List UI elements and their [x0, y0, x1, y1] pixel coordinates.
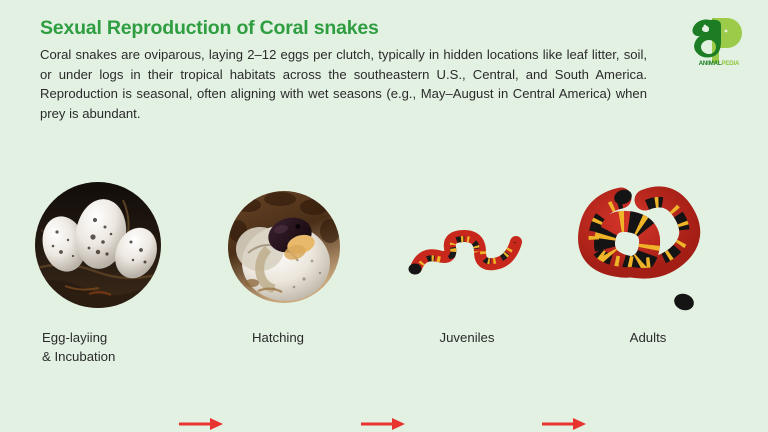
arrow-right-icon	[360, 416, 406, 432]
stage-caption: Hatching	[203, 328, 353, 347]
stage-artwork	[573, 180, 723, 325]
arrow-juveniles-to-adults	[541, 416, 587, 432]
stage-egg-laying: Egg-layiing & Incubation	[22, 180, 172, 380]
stage-caption-line1: Adults	[573, 328, 723, 347]
stage-hatching: Hatching	[203, 180, 353, 380]
juvenile-coral-snake-illustration	[402, 206, 532, 296]
hatching-photo	[228, 191, 340, 303]
arrow-right-icon	[178, 416, 224, 432]
stage-artwork	[22, 180, 172, 325]
eggs-in-leaf-litter-image	[35, 182, 161, 308]
page-title: Sexual Reproduction of Coral snakes	[40, 17, 379, 40]
stage-caption-line1: Egg-layiing	[42, 328, 172, 347]
stage-caption: Egg-layiing & Incubation	[22, 328, 172, 366]
stage-caption-line2: & Incubation	[42, 347, 172, 366]
stage-caption-line1: Juveniles	[392, 328, 542, 347]
eggs-photo	[35, 182, 161, 308]
arrow-egg-to-hatching	[178, 416, 224, 432]
description-paragraph: Coral snakes are oviparous, laying 2–12 …	[40, 45, 647, 123]
arrow-right-icon	[541, 416, 587, 432]
logo-wordmark-animal: ANIMAL	[699, 61, 722, 67]
animalpedia-logo: ANIMALPEDIA	[688, 10, 750, 68]
stage-artwork	[392, 180, 542, 325]
stage-caption-line1: Hatching	[203, 328, 353, 347]
stage-caption: Adults	[573, 328, 723, 347]
lifecycle-diagram: Egg-layiing & Incubation	[0, 180, 768, 380]
hatchling-emerging-from-egg-image	[228, 191, 340, 303]
logo-wordmark-pedia: PEDIA	[721, 61, 739, 67]
logo-monogram-icon	[688, 10, 750, 68]
header: Sexual Reproduction of Coral snakes Cora…	[0, 0, 768, 172]
logo-wordmark: ANIMALPEDIA	[688, 61, 750, 67]
arrow-hatching-to-juveniles	[360, 416, 406, 432]
stage-juveniles: Juveniles	[392, 180, 542, 380]
stage-artwork	[203, 180, 353, 325]
adult-coral-snake-illustration	[575, 184, 721, 318]
stage-caption: Juveniles	[392, 328, 542, 347]
stage-adults: Adults	[573, 180, 723, 380]
